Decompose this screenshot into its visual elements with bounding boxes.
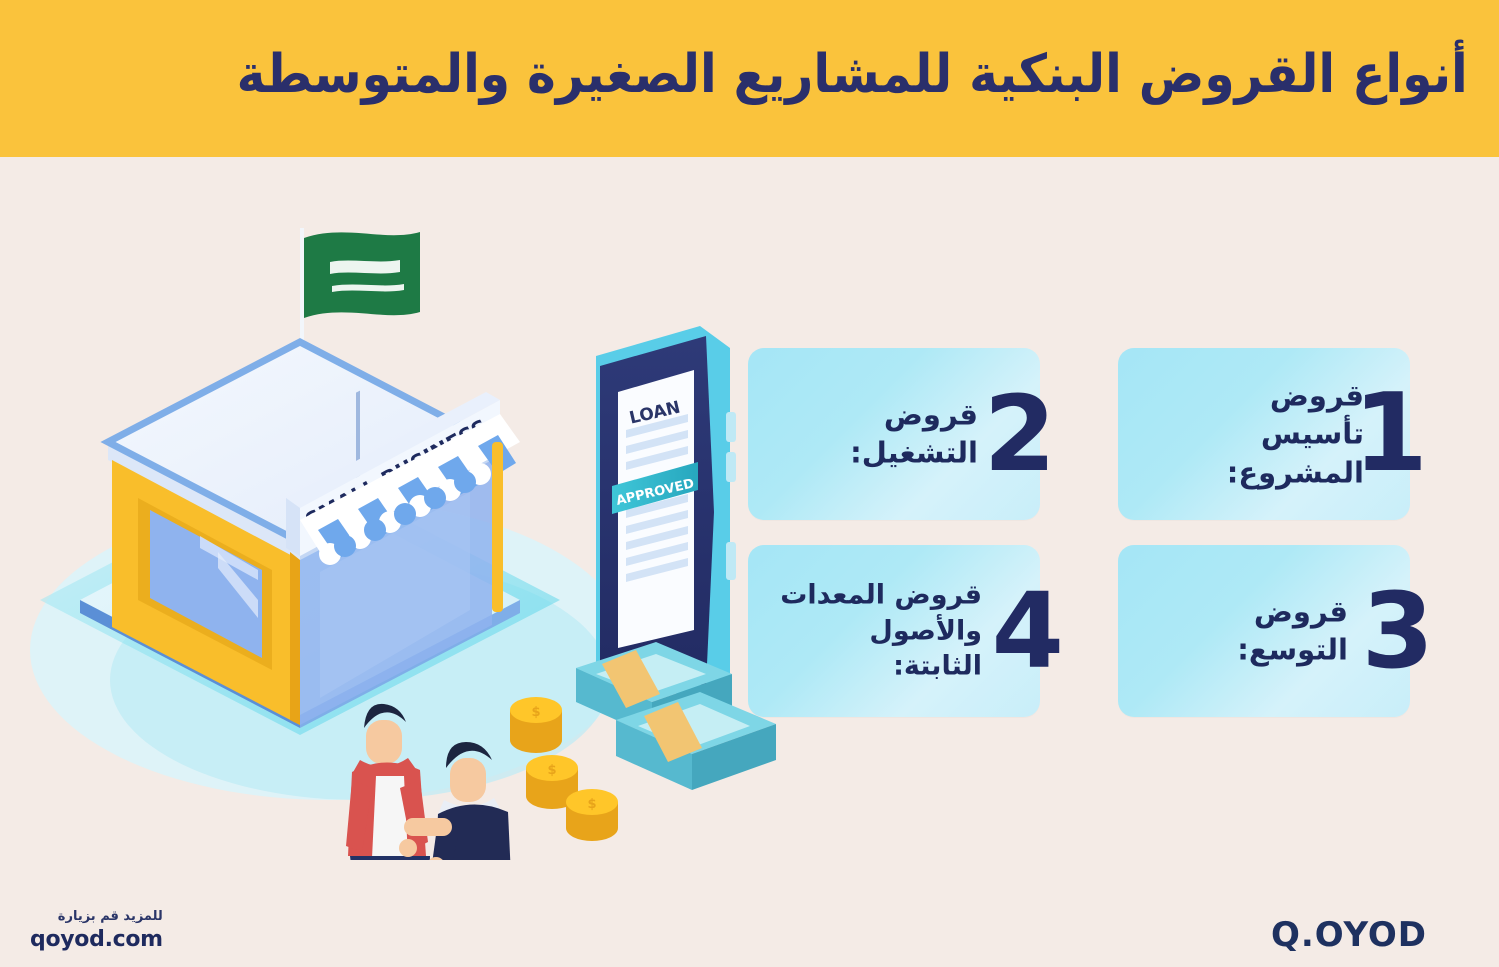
money-stacks xyxy=(576,642,776,790)
loan-type-card-3[interactable]: 3 قروض التوسع: xyxy=(1118,545,1410,717)
infographic-canvas: أنواع القروض البنكية للمشاريع الصغيرة وا… xyxy=(0,0,1499,967)
card-2-label: قروض التشغيل: xyxy=(802,396,978,473)
footer-cta-text: للمزيد قم بزيارة xyxy=(30,908,163,926)
loan-type-card-1[interactable]: 1 قروض تأسيس المشروع: xyxy=(1118,348,1410,520)
card-4-label: قروض المعدات والأصول الثابتة: xyxy=(772,578,982,685)
loan-type-card-4[interactable]: 4 قروض المعدات والأصول الثابتة: xyxy=(748,545,1040,717)
card-2-number: 2 xyxy=(984,382,1054,486)
isometric-scene: SMALL BUSINESS xyxy=(0,180,780,860)
card-3-label: قروض التوسع: xyxy=(1172,593,1348,670)
illustration: SMALL BUSINESS xyxy=(0,180,780,860)
card-3-number: 3 xyxy=(1362,579,1432,683)
svg-text:$: $ xyxy=(587,797,596,812)
svg-text:$: $ xyxy=(547,763,556,778)
handshake xyxy=(404,818,452,836)
card-2-inner: 2 قروض التشغيل: xyxy=(748,348,1040,520)
card-1-inner: 1 قروض تأسيس المشروع: xyxy=(1118,348,1410,520)
qoyod-logo: Q.OYOD xyxy=(1271,915,1427,955)
page-title: أنواع القروض البنكية للمشاريع الصغيرة وا… xyxy=(120,47,1499,111)
card-4-inner: 4 قروض المعدات والأصول الثابتة: xyxy=(748,545,1040,717)
card-1-label: قروض تأسيس المشروع: xyxy=(1168,377,1364,492)
footer-url[interactable]: qoyod.com xyxy=(30,928,163,952)
header-band: أنواع القروض البنكية للمشاريع الصغيرة وا… xyxy=(0,0,1499,157)
card-3-inner: 3 قروض التوسع: xyxy=(1118,545,1410,717)
footer-cta-block: للمزيد قم بزيارة qoyod.com xyxy=(30,908,163,952)
card-4-number: 4 xyxy=(992,579,1062,683)
loan-type-card-2[interactable]: 2 قروض التشغيل: xyxy=(748,348,1040,520)
svg-text:$: $ xyxy=(531,705,540,720)
phone-device: LOAN APPROVED xyxy=(596,326,736,700)
